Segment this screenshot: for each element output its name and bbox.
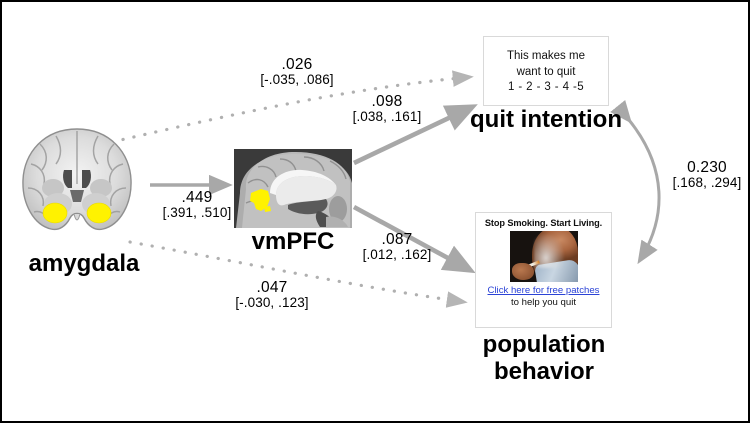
coef-vmpfc-to-population-behavior: .087 [.012, .162]: [332, 232, 462, 263]
coef-ci: [-.035, .086]: [217, 73, 377, 87]
coef-quit-intention-population-correlation: 0.230 [.168, .294]: [662, 160, 750, 191]
label-population-behavior: population behavior: [449, 332, 639, 386]
arrow-quit-intention-population-correlation: [629, 120, 659, 260]
coef-ci: [.168, .294]: [662, 176, 750, 190]
brain-image-coronal-amygdala: [18, 126, 136, 234]
ad-subtext: to help you quit: [511, 297, 576, 308]
coef-ci: [.038, .161]: [317, 110, 457, 124]
coef-value: .449: [137, 190, 257, 206]
vmpfc-activation-tail: [264, 206, 271, 212]
label-amygdala: amygdala: [24, 251, 144, 276]
ad-headline: Stop Smoking. Start Living.: [485, 218, 602, 228]
coef-vmpfc-to-quit-intention: .098 [.038, .161]: [317, 94, 457, 125]
coef-value: .047: [197, 280, 347, 296]
quit-stim-rating-scale: 1 - 2 - 3 - 4 -5: [508, 81, 584, 93]
ad-link[interactable]: Click here for free patches: [488, 285, 600, 296]
coef-amygdala-to-quit-intention: .026 [-.035, .086]: [217, 57, 377, 88]
amygdala-activation-left: [43, 203, 67, 223]
coef-value: .087: [332, 232, 462, 248]
coef-value: .026: [217, 57, 377, 73]
label-quit-intention: quit intention: [451, 107, 641, 132]
amygdala-activation-right: [87, 203, 111, 223]
quit-intention-stimulus-box: This makes me want to quit 1 - 2 - 3 - 4…: [483, 36, 609, 106]
population-behavior-ad-box: Stop Smoking. Start Living. Click here f…: [475, 212, 612, 328]
quit-stim-line2: want to quit: [517, 65, 576, 81]
ad-photo-man-smoking: [510, 231, 578, 282]
label-population-behavior-line2: behavior: [449, 359, 639, 386]
coef-value: 0.230: [662, 160, 750, 176]
coef-ci: [-.030, .123]: [197, 296, 347, 310]
quit-stim-line1: This makes me: [507, 49, 585, 65]
path-model-figure: This makes me want to quit 1 - 2 - 3 - 4…: [0, 0, 750, 423]
coef-amygdala-to-population-behavior: .047 [-.030, .123]: [197, 280, 347, 311]
coef-value: .098: [317, 94, 457, 110]
coef-amygdala-to-vmpfc: .449 [.391, .510]: [137, 190, 257, 221]
coef-ci: [.012, .162]: [332, 248, 462, 262]
label-population-behavior-line1: population: [449, 332, 639, 359]
coef-ci: [.391, .510]: [137, 206, 257, 220]
